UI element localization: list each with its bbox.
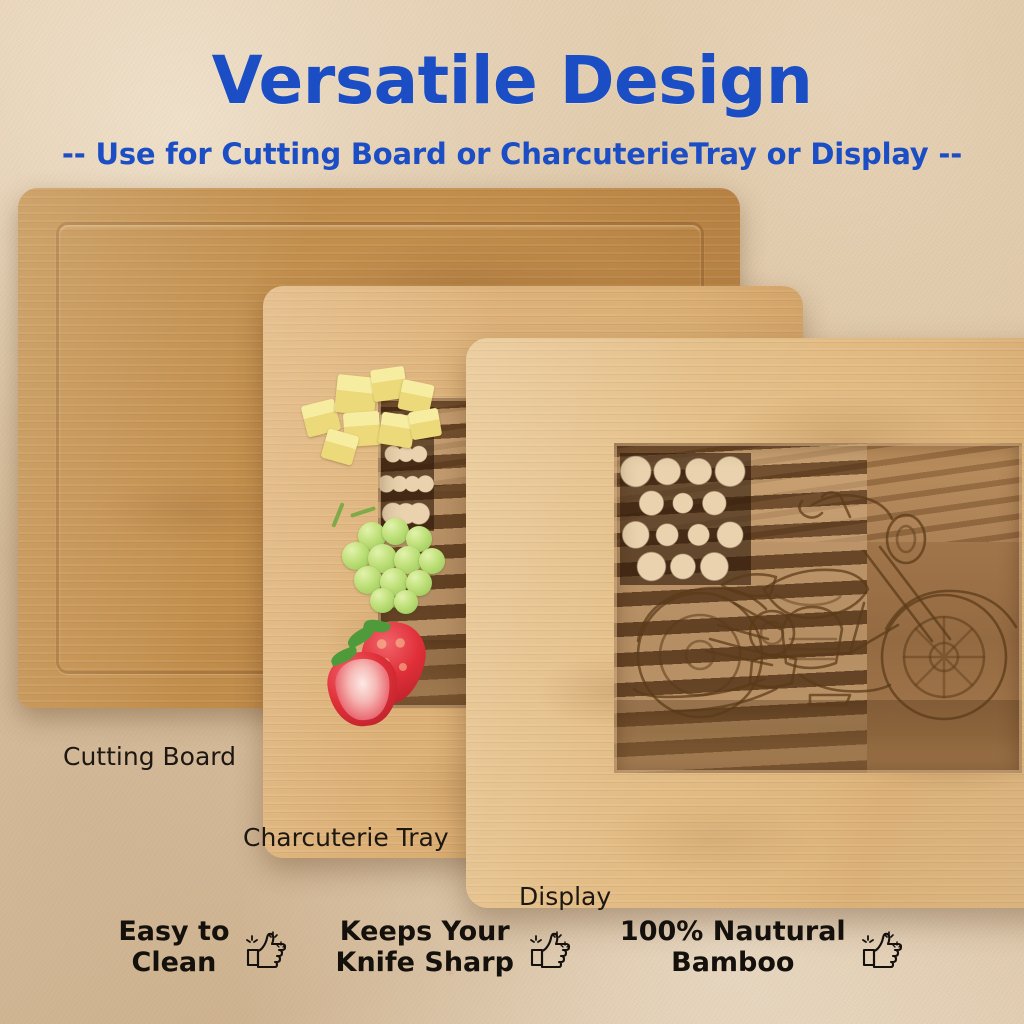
page-subtitle: -- Use for Cutting Board or CharcuterieT…	[0, 140, 1024, 169]
caption-charcuterie-tray: Charcuterie Tray	[243, 823, 449, 852]
green-grapes	[320, 500, 460, 610]
thumbs-up-icon	[524, 923, 574, 973]
feature-natural-bamboo: 100% Nautural Bamboo	[620, 917, 906, 979]
thumbs-up-icon	[856, 923, 906, 973]
engraved-panel-rim	[614, 443, 1022, 773]
page-title: Versatile Design	[0, 48, 1024, 114]
strawberries	[326, 620, 451, 730]
caption-cutting-board: Cutting Board	[63, 742, 236, 771]
feature-line2: Knife Sharp	[336, 947, 514, 978]
feature-keeps-knife-sharp: Keeps Your Knife Sharp	[336, 917, 574, 979]
thumbs-up-icon	[240, 923, 290, 973]
feature-line1: Easy to	[118, 916, 229, 947]
feature-line2: Bamboo	[671, 947, 794, 978]
feature-easy-to-clean: Easy to Clean	[118, 917, 289, 979]
feature-line1: Keeps Your	[340, 916, 510, 947]
cheese-cubes	[296, 368, 446, 468]
feature-label: Keeps Your Knife Sharp	[336, 917, 514, 979]
feature-line2: Clean	[132, 947, 217, 978]
product-marketing-image: Versatile Design -- Use for Cutting Boar…	[0, 0, 1024, 1024]
feature-label: 100% Nautural Bamboo	[620, 917, 846, 979]
feature-line1: 100% Nautural	[620, 916, 846, 947]
feature-label: Easy to Clean	[118, 917, 229, 979]
engraved-artwork-panel-display	[614, 443, 1022, 773]
feature-row: Easy to Clean Keeps Your K	[0, 900, 1024, 996]
